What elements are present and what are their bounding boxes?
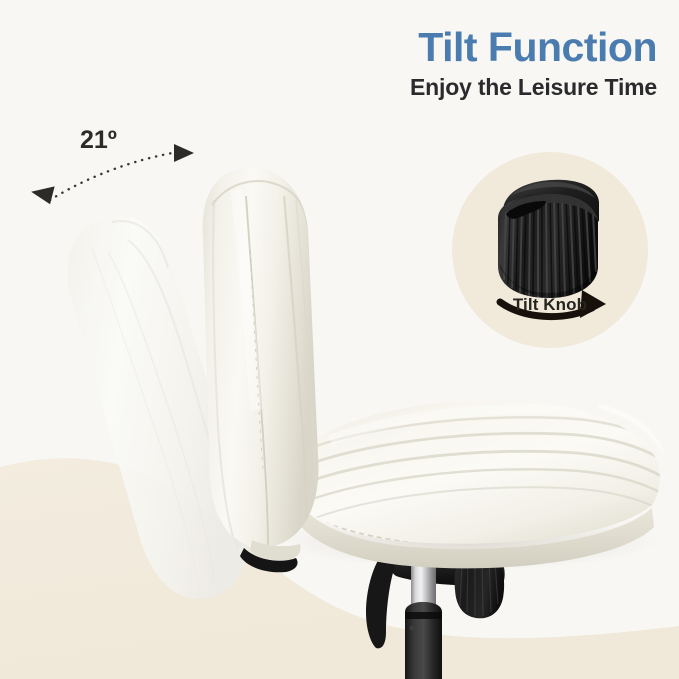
tilt-mechanism-housing — [384, 548, 504, 586]
tilt-knob-callout: Tilt Knob — [452, 152, 648, 348]
seat-cushion — [292, 400, 674, 568]
backrest-bracket — [240, 548, 298, 572]
product-feature-image: Tilt Function Enjoy the Leisure Time 21º — [0, 0, 679, 679]
tilt-angle-annotation: 21º — [18, 126, 218, 222]
height-adjust-lever — [366, 556, 396, 648]
chair-column-post — [405, 602, 442, 679]
backrest-base-trim — [250, 540, 301, 561]
backrest-stitching — [212, 181, 317, 548]
seat-side-panel — [294, 498, 654, 568]
tilt-knob-label: Tilt Knob — [452, 295, 648, 315]
dotted-arc-arrow-icon — [18, 126, 218, 222]
tilt-knob-on-chair — [455, 554, 505, 619]
tilt-angle-value: 21º — [80, 126, 117, 155]
seat-channel-stitching — [294, 409, 674, 548]
seat-contact-shadow — [280, 510, 660, 570]
page-subtitle: Enjoy the Leisure Time — [237, 75, 657, 100]
page-title: Tilt Function — [237, 26, 657, 69]
headline-block: Tilt Function Enjoy the Leisure Time — [237, 26, 657, 100]
backrest-ghost-reclined — [68, 215, 249, 599]
backrest-pad — [203, 167, 319, 547]
gas-lift-cylinder — [411, 556, 436, 618]
seat-top-surface — [292, 400, 660, 544]
chair-base-assembly — [366, 548, 505, 679]
backrest-upright — [203, 167, 319, 572]
